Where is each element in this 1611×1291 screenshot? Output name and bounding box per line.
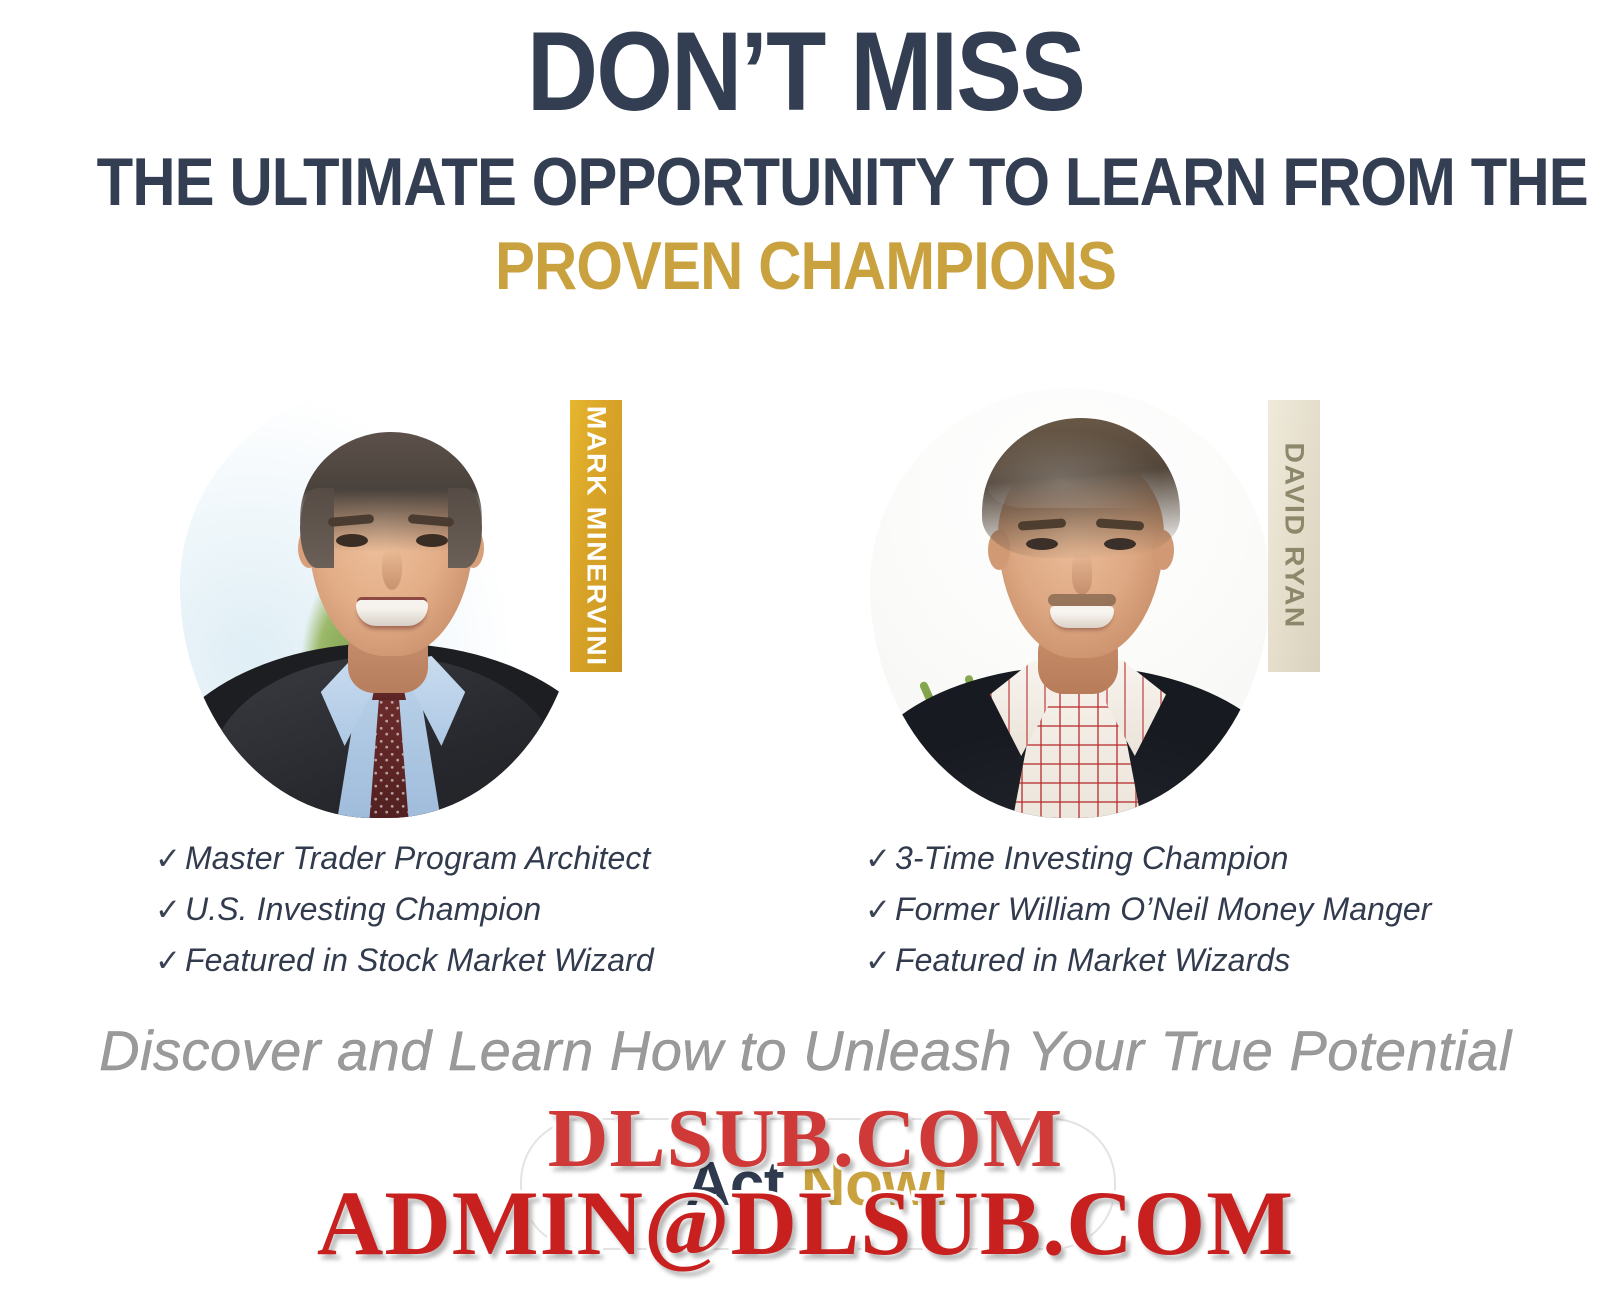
credential-text: Featured in Market Wizards	[895, 942, 1290, 979]
headline-line-3: PROVEN CHAMPIONS	[97, 232, 1515, 300]
name-ribbon-label: DAVID RYAN	[1279, 443, 1310, 629]
credential-text: Former William O’Neil Money Manger	[895, 891, 1432, 928]
watermark-email: ADMIN@DLSUB.COM	[0, 1170, 1611, 1276]
name-ribbon-mark-minervini: MARK MINERVINI	[570, 400, 622, 672]
headline-line-1: DON’T MISS	[97, 16, 1515, 128]
name-ribbon-label: MARK MINERVINI	[581, 406, 612, 667]
mouth	[356, 600, 428, 626]
person-card-mark-minervini: MARK MINERVINI	[110, 370, 770, 840]
check-icon: ✓	[865, 844, 895, 875]
check-icon: ✓	[155, 844, 185, 875]
list-item: ✓ Featured in Market Wizards	[865, 942, 1432, 979]
credential-text: Featured in Stock Market Wizard	[185, 942, 654, 979]
credentials-list-david-ryan: ✓ 3-Time Investing Champion ✓ Former Wil…	[865, 840, 1432, 993]
list-item: ✓ Featured in Stock Market Wizard	[155, 942, 654, 979]
check-icon: ✓	[155, 946, 185, 977]
list-item: ✓ 3-Time Investing Champion	[865, 840, 1432, 877]
list-item: ✓ Former William O’Neil Money Manger	[865, 891, 1432, 928]
credential-text: U.S. Investing Champion	[185, 891, 541, 928]
credentials-list-mark-minervini: ✓ Master Trader Program Architect ✓ U.S.…	[155, 840, 654, 993]
headline-block: DON’T MISS THE ULTIMATE OPPORTUNITY TO L…	[0, 0, 1611, 300]
eye-right	[1104, 538, 1136, 550]
nose	[1072, 552, 1092, 594]
credential-text: Master Trader Program Architect	[185, 840, 650, 877]
portrait-photo-david-ryan	[870, 388, 1270, 818]
nose	[382, 548, 402, 590]
eye-left	[336, 534, 368, 547]
hair-side-left	[300, 488, 334, 568]
portrait-row: MARK MINERVINI	[0, 370, 1611, 840]
check-icon: ✓	[155, 895, 185, 926]
list-item: ✓ Master Trader Program Architect	[155, 840, 654, 877]
headline-line-2: THE ULTIMATE OPPORTUNITY TO LEARN FROM T…	[97, 148, 1515, 216]
eye-right	[416, 534, 448, 547]
person-card-david-ryan: DAVID RYAN	[800, 370, 1460, 840]
tagline: Discover and Learn How to Unleash Your T…	[0, 1018, 1611, 1083]
moustache	[1048, 594, 1116, 606]
check-icon: ✓	[865, 946, 895, 977]
credential-text: 3-Time Investing Champion	[895, 840, 1289, 877]
list-item: ✓ U.S. Investing Champion	[155, 891, 654, 928]
portrait-photo-mark-minervini	[180, 388, 580, 818]
promo-banner: DON’T MISS THE ULTIMATE OPPORTUNITY TO L…	[0, 0, 1611, 1291]
mouth	[1050, 606, 1114, 628]
check-icon: ✓	[865, 895, 895, 926]
hair-side-right	[448, 488, 482, 568]
name-ribbon-david-ryan: DAVID RYAN	[1268, 400, 1320, 672]
eye-left	[1026, 538, 1058, 550]
